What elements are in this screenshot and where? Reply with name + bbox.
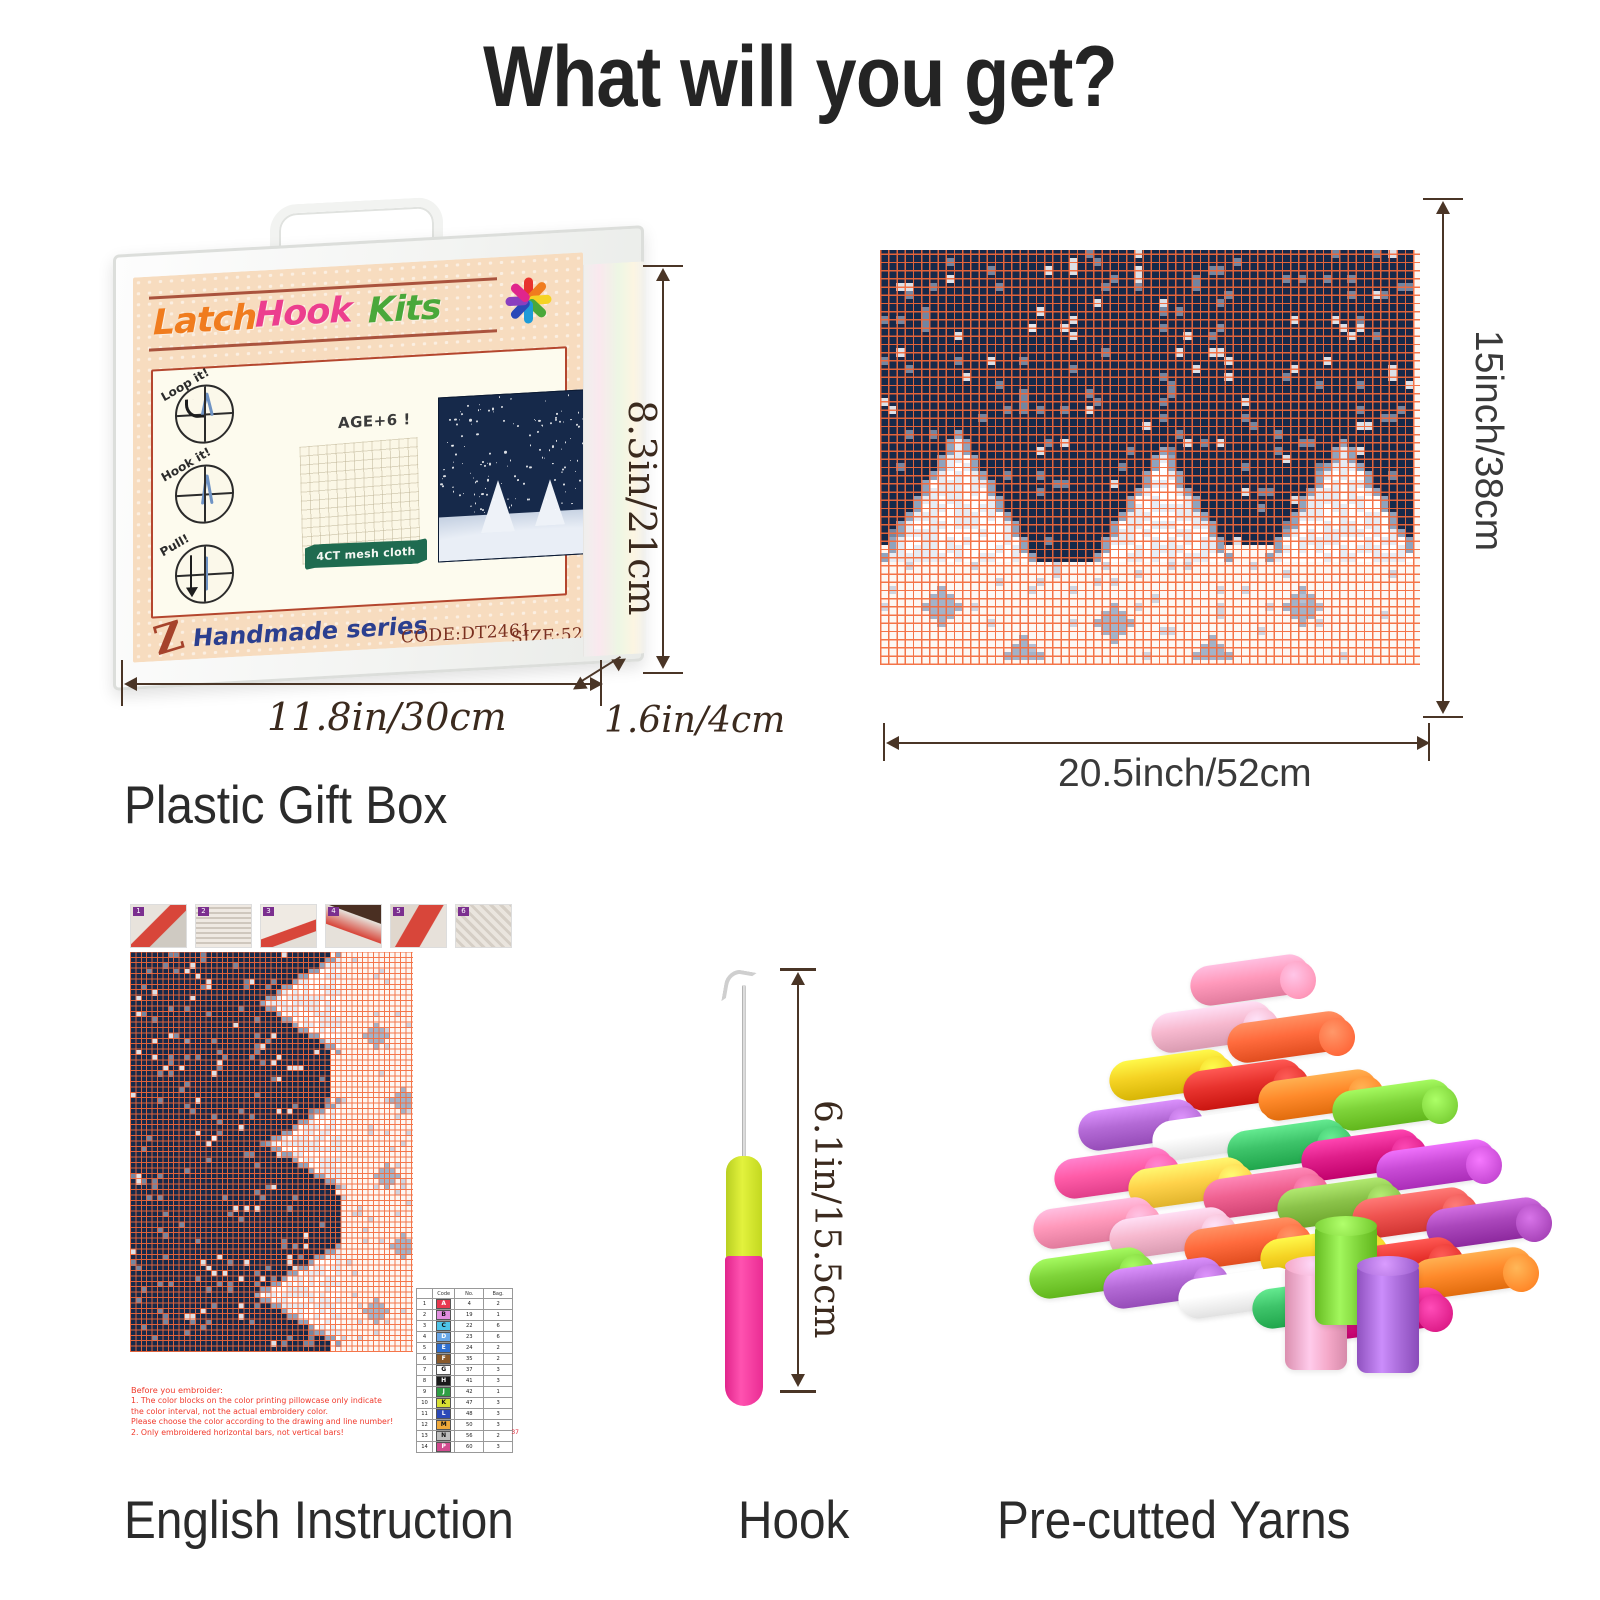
preview-snow-dot: [452, 467, 453, 468]
preview-snow-dot: [538, 419, 540, 421]
preview-snow-dot: [489, 463, 491, 465]
preview-snow-dot: [503, 420, 505, 422]
preview-snow-dot: [482, 461, 484, 463]
preview-snow-dot: [559, 421, 561, 423]
preview-snow-dot: [449, 419, 451, 421]
preview-snow-dot: [568, 395, 569, 396]
preview-snow-dot: [526, 466, 528, 468]
preview-snow-dot: [575, 471, 576, 472]
preview-snow-dot: [507, 499, 508, 500]
printed-canvas-figure: [880, 250, 1420, 665]
preview-snow-dot: [552, 445, 554, 447]
preview-snow-dot: [561, 411, 562, 412]
brand-word-hook: Hook: [255, 290, 352, 335]
preview-snow-dot: [484, 465, 486, 467]
preview-snow-dot: [578, 412, 579, 413]
preview-snow-dot: [484, 512, 485, 513]
preview-snow-dot: [501, 483, 502, 484]
preview-snow-dot: [453, 461, 454, 462]
preview-snow-dot: [452, 486, 454, 488]
box-inner-card: Loop it! Hook it! Pull! AGE+6 ! 4CT mesh: [151, 346, 567, 618]
preview-snow-dot: [570, 438, 571, 439]
preview-snow-dot: [544, 457, 546, 459]
preview-snow-dot: [455, 454, 456, 455]
preview-snow-dot: [481, 493, 483, 495]
preview-snow-dot: [565, 441, 566, 443]
preview-snow-dot: [469, 419, 471, 421]
preview-snow-dot: [485, 488, 486, 489]
preview-snow-dot: [501, 406, 503, 408]
preview-snow-dot: [447, 442, 448, 443]
preview-snow-dot: [470, 472, 471, 473]
preview-snow-dot: [493, 411, 494, 412]
preview-snow-dot: [454, 418, 456, 420]
preview-snow-dot: [529, 434, 531, 436]
series-label: Handmade series: [192, 611, 430, 652]
preview-snow-dot: [492, 408, 494, 410]
preview-snow-dot: [515, 498, 516, 499]
thumbnail-number-badge: 2: [198, 907, 209, 916]
design-preview-image: [438, 386, 583, 562]
preview-snow-dot: [471, 424, 472, 425]
preview-snow-dot: [467, 405, 469, 407]
preview-snow-dot: [535, 420, 536, 421]
preview-snow-dot: [527, 499, 528, 500]
step-photo-thumbnail: 2: [195, 904, 252, 948]
preview-snow-dot: [499, 396, 501, 398]
step-photo-thumbnail: 4: [325, 904, 382, 948]
preview-snow-dot: [487, 479, 489, 482]
preview-snow-dot: [470, 506, 471, 507]
canvas-mesh-grid: [880, 250, 1420, 665]
preview-snow-dot: [459, 494, 461, 496]
preview-snow-dot: [582, 418, 583, 419]
preview-snow-dot: [461, 413, 463, 415]
preview-snow-dot: [473, 477, 474, 478]
age-note: AGE+6 !: [338, 410, 411, 432]
preview-snow-dot: [462, 463, 463, 464]
preview-snow-dot: [474, 494, 475, 496]
thumbnail-number-badge: 6: [458, 907, 469, 916]
preview-snow-dot: [452, 445, 454, 447]
brand-word-latch: Latch: [153, 298, 256, 344]
preview-snow-dot: [561, 503, 562, 504]
preview-snow-dot: [478, 409, 479, 410]
preview-snow-dot: [564, 466, 566, 468]
preview-snow-dot: [545, 401, 546, 402]
preview-snow-dot: [443, 475, 445, 477]
preview-snow-dot: [507, 466, 508, 468]
preview-snow-dot: [510, 460, 512, 462]
preview-snow-dot: [510, 398, 511, 399]
preview-snow-dot: [442, 485, 444, 487]
preview-snow-dot: [476, 433, 478, 435]
preview-snow-dot: [461, 435, 463, 437]
preview-snow-dot: [463, 493, 464, 494]
giftbox-depth-label: 1.6in/4cm: [604, 700, 785, 741]
page-title: What will you get?: [112, 28, 1488, 127]
preview-snow-dot: [514, 476, 515, 477]
brand-word-kits: Kits: [368, 287, 441, 331]
english-instruction-figure: 123456 Code No. Bag. 1A422B1913C2264D236…: [125, 900, 525, 1480]
step-diagram-pull: [175, 543, 234, 605]
gift-box-caption: Plastic Gift Box: [124, 775, 447, 836]
canvas-height-label: 15inch/38cm: [1466, 330, 1510, 551]
pinwheel-logo-icon: [501, 272, 555, 329]
preview-snow-dot: [476, 481, 478, 483]
preview-snow-dot: [563, 484, 565, 486]
preview-snow-dot: [476, 421, 478, 423]
step-diagram-hook: [175, 463, 234, 525]
preview-snow-dot: [561, 471, 563, 473]
preview-snow-dot: [488, 409, 490, 411]
preview-snow-dot: [523, 483, 524, 484]
preview-snow-dot: [440, 483, 442, 485]
preview-snow-dot: [556, 440, 557, 441]
thumbnail-number-badge: 4: [328, 907, 339, 916]
preview-snow-dot: [556, 413, 557, 414]
preview-snow-dot: [443, 469, 445, 471]
preview-snow-dot: [488, 476, 489, 477]
preview-snow-dot: [464, 446, 465, 447]
preview-snow-dot: [549, 449, 550, 451]
preview-snow-dot: [479, 496, 480, 497]
preview-snow-dot: [480, 464, 481, 466]
preview-snow-dot: [529, 466, 531, 468]
preview-snow-dot: [474, 511, 475, 512]
step-photo-thumbnail: 1: [130, 904, 187, 948]
preview-snow-dot: [565, 491, 566, 492]
preview-snow-dot: [459, 419, 460, 420]
preview-snow-dot: [442, 478, 443, 479]
thumbnail-number-badge: 5: [393, 907, 404, 916]
preview-snow-dot: [575, 488, 576, 489]
preview-snow-dot: [479, 404, 480, 405]
preview-snow-dot: [570, 460, 571, 462]
preview-snow-dot: [509, 507, 511, 509]
step-photo-thumbnail: 6: [455, 904, 512, 948]
gift-box-figure: Latch Hook Kits Loop it! Hook it! Pull!: [95, 185, 685, 705]
preview-snow-dot: [563, 422, 564, 423]
preview-snow-dot: [486, 493, 488, 495]
giftbox-width-label: 11.8in/30cm: [267, 695, 507, 739]
printed-canvas: [880, 250, 1420, 665]
giftbox-height-label: 8.3in/21cm: [620, 400, 664, 616]
preview-snow-dot: [517, 425, 519, 428]
preview-snow-dot: [577, 460, 578, 461]
preview-snow-dot: [550, 422, 552, 424]
step-photo-thumbnail: 3: [260, 904, 317, 948]
preview-snow-dot: [453, 491, 454, 492]
preview-snow-dot: [496, 462, 497, 463]
canvas-width-label: 20.5inch/52cm: [1058, 752, 1312, 796]
preview-snow-dot: [539, 448, 541, 450]
preview-snow-dot: [579, 479, 581, 481]
preview-snow-dot: [489, 452, 491, 454]
preview-snow-dot: [552, 463, 554, 465]
step-photo-strip: 123456: [130, 900, 520, 948]
preview-snow-dot: [570, 419, 572, 421]
thumbnail-number-badge: 1: [133, 907, 144, 916]
preview-snow-dot: [504, 451, 506, 453]
preview-snow-dot: [528, 498, 530, 500]
preview-snow-dot: [571, 503, 573, 505]
preview-snow-dot: [493, 499, 494, 501]
box-front-face: Latch Hook Kits Loop it! Hook it! Pull!: [133, 252, 583, 662]
preview-snow-dot: [554, 479, 556, 481]
preview-snow-dot: [456, 423, 458, 425]
step-diagram-loop: [175, 383, 234, 445]
preview-snow-dot: [511, 505, 512, 507]
step-photo-thumbnail: 5: [390, 904, 447, 948]
preview-snow-dot: [561, 448, 562, 450]
preview-snow-dot: [537, 431, 539, 433]
preview-snow-dot: [582, 443, 583, 445]
preview-snow-dot: [480, 409, 481, 410]
thumbnail-number-badge: 3: [263, 907, 274, 916]
preview-snow-dot: [475, 503, 476, 504]
pattern-chart: [130, 952, 413, 1352]
preview-snow-dot: [530, 444, 532, 446]
preview-snow-dot: [578, 425, 580, 427]
preview-snow-dot: [513, 424, 514, 425]
preview-snow-dot: [517, 479, 519, 481]
